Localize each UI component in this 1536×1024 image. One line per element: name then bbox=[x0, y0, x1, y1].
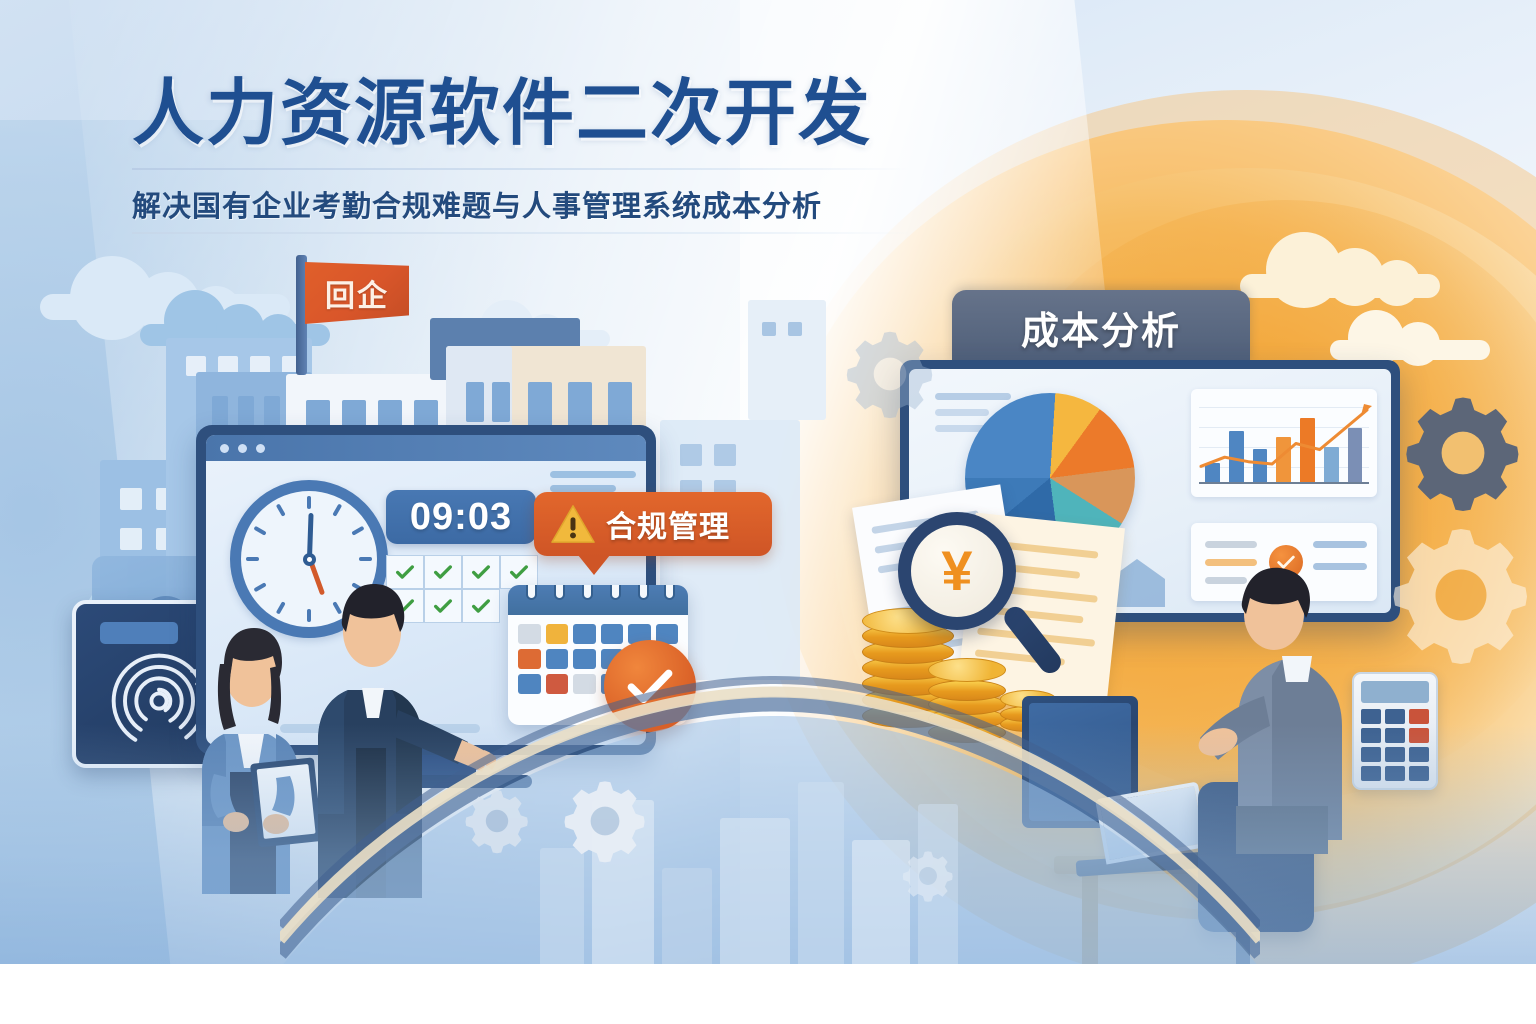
calendar-ring-icon bbox=[582, 585, 593, 600]
flag-label: 回企 bbox=[325, 271, 389, 315]
calendar-day-cell[interactable] bbox=[601, 624, 624, 644]
title-divider bbox=[132, 168, 912, 170]
calendar-ring-icon bbox=[554, 585, 565, 600]
gear-bridge-2 bbox=[462, 786, 532, 856]
cost-analysis-tab[interactable]: 成本分析 bbox=[952, 290, 1250, 364]
calendar-day-cell[interactable] bbox=[546, 624, 569, 644]
subtitle-divider bbox=[132, 232, 912, 234]
calendar-ring-icon bbox=[664, 585, 675, 600]
calendar-day-cell[interactable] bbox=[518, 624, 541, 644]
trend-line-series bbox=[1191, 389, 1377, 497]
gear-bridge-1 bbox=[560, 776, 650, 866]
warning-triangle-icon bbox=[550, 503, 596, 545]
calendar-day-cell[interactable] bbox=[546, 649, 569, 669]
gear-large-right bbox=[1400, 390, 1526, 516]
check-icon bbox=[508, 561, 530, 583]
attendance-cell[interactable] bbox=[500, 555, 538, 589]
bar-axis bbox=[1199, 482, 1369, 484]
calendar-ring-icon bbox=[638, 585, 649, 600]
gear-left-dashboard bbox=[842, 326, 938, 422]
calendar-ring-icon bbox=[526, 585, 537, 600]
window-dot-icon bbox=[256, 444, 265, 453]
compliance-badge[interactable]: 合规管理 bbox=[534, 492, 772, 556]
badge-pointer bbox=[578, 555, 610, 575]
calendar-day-cell[interactable] bbox=[573, 624, 596, 644]
gear-small-right bbox=[1386, 520, 1536, 670]
screen-titlebar bbox=[206, 435, 646, 461]
trend-line bbox=[1201, 410, 1367, 466]
calendar-ring-icon bbox=[610, 585, 621, 600]
page-subtitle: 解决国有企业考勤合规难题与人事管理系统成本分析 bbox=[132, 183, 822, 225]
gear-bridge-3 bbox=[900, 848, 956, 904]
calendar-day-cell[interactable] bbox=[518, 649, 541, 669]
page-title: 人力资源软件二次开发 bbox=[132, 78, 872, 150]
cost-analysis-label: 成本分析 bbox=[1021, 300, 1181, 355]
cost-bar-chart bbox=[1191, 389, 1377, 497]
trend-arrow-icon bbox=[1361, 404, 1372, 415]
compliance-label: 合规管理 bbox=[606, 502, 730, 546]
calculator-key-red[interactable] bbox=[1409, 709, 1429, 724]
digital-time-badge: 09:03 bbox=[386, 490, 536, 544]
window-dot-icon bbox=[220, 444, 229, 453]
state-enterprise-flag: 回企 bbox=[305, 262, 409, 324]
calendar-day-cell[interactable] bbox=[573, 649, 596, 669]
bottom-white-strip bbox=[0, 964, 1536, 1024]
window-dot-icon bbox=[238, 444, 247, 453]
time-value: 09:03 bbox=[410, 496, 512, 539]
currency-magnifier[interactable]: ¥ bbox=[898, 512, 1016, 630]
poster-canvas: 回企 人力资源软件二次开发 解决国有企业考勤合规难题与人事管理系统成本分析 bbox=[0, 0, 1536, 1024]
currency-symbol: ¥ bbox=[941, 543, 972, 599]
